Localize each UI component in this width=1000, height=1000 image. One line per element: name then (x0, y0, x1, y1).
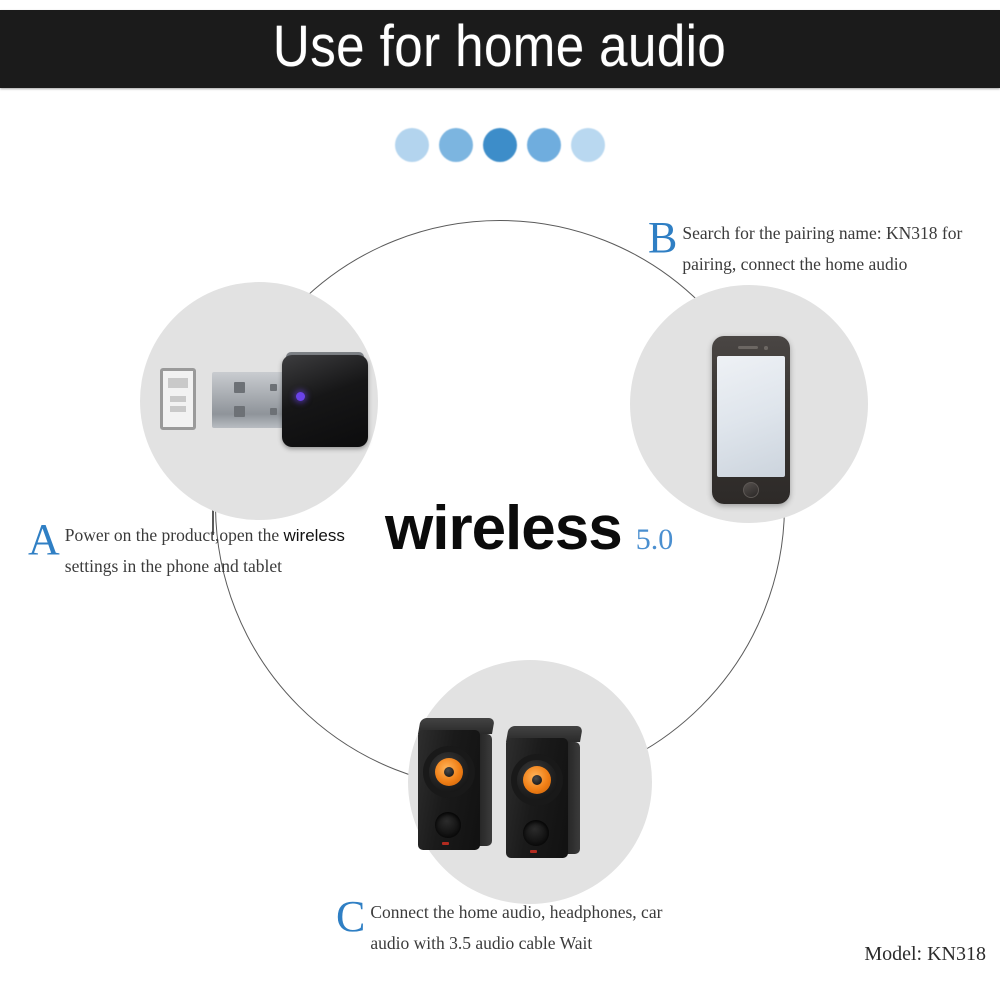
callout-c: C Connect the home audio, headphones, ca… (336, 897, 662, 959)
phone-earpiece (738, 346, 758, 349)
wordmark-text: wireless (385, 498, 622, 560)
dot-3-icon (483, 128, 517, 162)
speaker-dustcap (532, 775, 542, 785)
led-indicator-icon (296, 392, 305, 401)
dot-5-icon (571, 128, 605, 162)
usb-dongle-icon (212, 372, 292, 428)
product-infographic: Use for home audio (0, 0, 1000, 1000)
phone-screen (717, 356, 785, 477)
decorative-dot-row (0, 128, 1000, 162)
speaker-driver (429, 752, 469, 792)
callout-b-line2: pairing, connect the home audio (682, 254, 907, 274)
callout-b-line1: Search for the pairing name: KN318 for (682, 223, 962, 243)
usb-dongle-body (282, 355, 368, 447)
speaker-side (566, 742, 580, 854)
phone-home-button (743, 482, 759, 498)
callout-a-line1-highlight: wireless (283, 526, 344, 545)
callout-b-text: Search for the pairing name: KN318 for p… (682, 218, 962, 280)
speaker-cone (523, 766, 551, 794)
dot-4-icon (527, 128, 561, 162)
header-banner: Use for home audio (0, 10, 1000, 88)
callout-a-line2: settings in the phone and tablet (65, 556, 282, 576)
callout-a-letter: A (28, 520, 60, 560)
dot-2-icon (439, 128, 473, 162)
usb-pin (234, 382, 245, 393)
usb-pin (270, 384, 277, 391)
dot-1-icon (395, 128, 429, 162)
page-title: Use for home audio (0, 20, 1000, 78)
speaker-left-icon (418, 718, 492, 850)
usb-pin (234, 406, 245, 417)
center-wordmark: wireless 5.0 (385, 498, 673, 560)
speaker-front (506, 738, 568, 858)
callout-b-letter: B (648, 218, 677, 258)
speaker-bass-port (435, 812, 461, 838)
callout-c-text: Connect the home audio, headphones, car … (370, 897, 662, 959)
callout-a-text: Power on the product,open the wireless s… (65, 520, 345, 582)
callout-b: B Search for the pairing name: KN318 for… (648, 218, 962, 280)
wordmark-version: 5.0 (636, 525, 674, 555)
callout-c-line2: audio with 3.5 audio cable Wait (370, 933, 592, 953)
callout-a: A Power on the product,open the wireless… (28, 520, 345, 582)
callout-c-letter: C (336, 897, 365, 937)
smartphone-icon (712, 336, 790, 504)
callout-a-line1-before: Power on the product,open the (65, 525, 284, 545)
speaker-cone (435, 758, 463, 786)
speaker-bass-port (523, 820, 549, 846)
speaker-driver (517, 760, 557, 800)
usb-pin (270, 408, 277, 415)
speaker-side (478, 734, 492, 846)
speaker-power-led (442, 842, 449, 845)
model-label: Model: KN318 (864, 943, 986, 966)
speaker-front (418, 730, 480, 850)
speaker-power-led (530, 850, 537, 853)
speaker-right-icon (506, 726, 580, 858)
callout-c-line1: Connect the home audio, headphones, car (370, 902, 662, 922)
phone-camera-icon (764, 346, 768, 350)
usb-port-icon (160, 368, 196, 430)
speaker-dustcap (444, 767, 454, 777)
page-title-text: Use for home audio (273, 18, 726, 76)
